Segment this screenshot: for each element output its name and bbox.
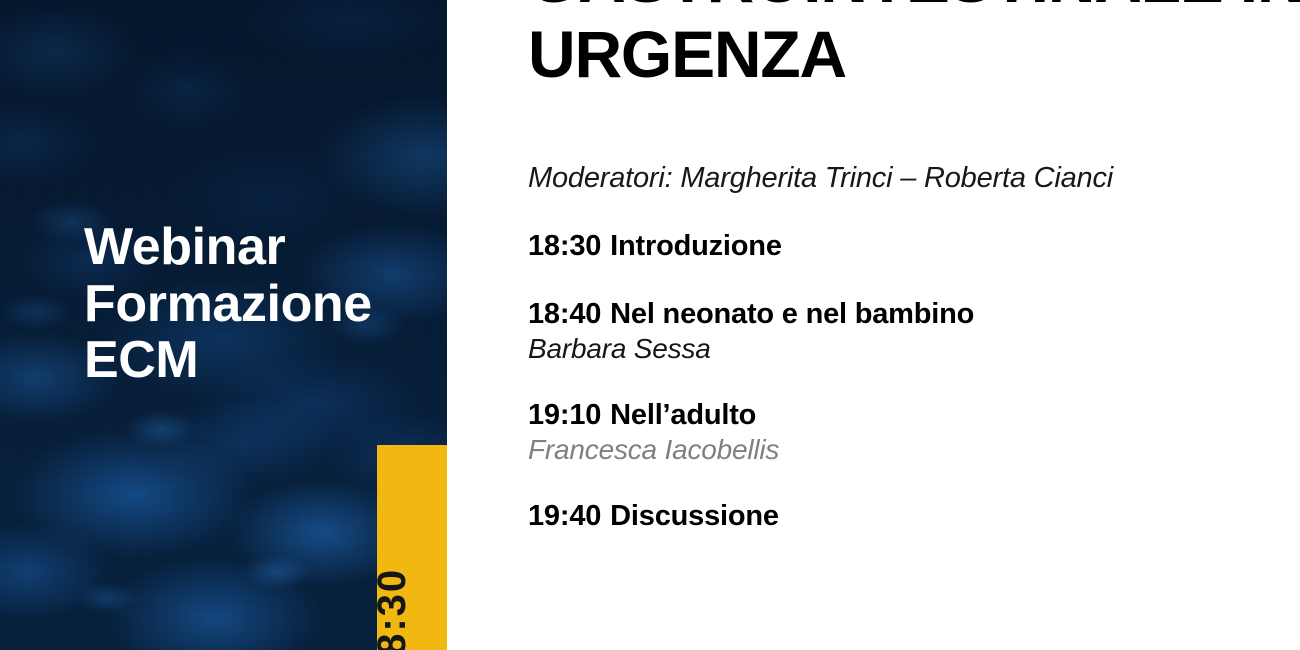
event-title-line-2: URGENZA (528, 17, 1288, 92)
brand-title: Webinar Formazione ECM (84, 219, 414, 389)
program-item-heading: 19:10Nell’adulto (528, 397, 1288, 434)
brand-title-line-1: Webinar (84, 219, 414, 276)
moderators-line: Moderatori: Margherita Trinci – Roberta … (528, 162, 1113, 195)
program-item-time: 19:40 (528, 500, 601, 532)
program-item-heading: 18:30Introduzione (528, 228, 1288, 265)
program-item-time: 18:40 (528, 298, 601, 330)
brand-title-line-2: Formazione (84, 276, 414, 333)
program-item: 19:10Nell’adulto Francesca Iacobellis (528, 397, 1288, 467)
program-item-speaker: Francesca Iacobellis (528, 433, 1288, 467)
event-title: GASTROINTESTINALE IN URGENZA (528, 0, 1288, 91)
event-title-line-1: GASTROINTESTINALE IN (528, 0, 1288, 17)
start-time-tab: 18:30 (377, 445, 447, 650)
program-panel: GASTROINTESTINALE IN URGENZA Moderatori:… (447, 0, 1300, 650)
program-item-speaker: Barbara Sessa (528, 332, 1288, 366)
program-item: 19:40Discussione (528, 498, 1288, 535)
program-item: 18:40Nel neonato e nel bambino Barbara S… (528, 296, 1288, 366)
program-item-heading: 18:40Nel neonato e nel bambino (528, 296, 1288, 333)
program-item-topic: Nell’adulto (610, 399, 756, 431)
start-time-label: 18:30 (372, 568, 412, 650)
program-item-topic: Introduzione (610, 230, 782, 262)
program-item-time: 19:10 (528, 399, 601, 431)
program-item-topic: Nel neonato e nel bambino (610, 298, 974, 330)
program-item: 18:30Introduzione (528, 228, 1288, 265)
webinar-poster: Webinar Formazione ECM 18:30 GASTROINTES… (0, 0, 1300, 650)
program-item-heading: 19:40Discussione (528, 498, 1288, 535)
program-item-topic: Discussione (610, 500, 779, 532)
program-list: 18:30Introduzione 18:40Nel neonato e nel… (528, 228, 1288, 534)
brand-title-line-3: ECM (84, 332, 414, 389)
program-item-time: 18:30 (528, 230, 601, 262)
